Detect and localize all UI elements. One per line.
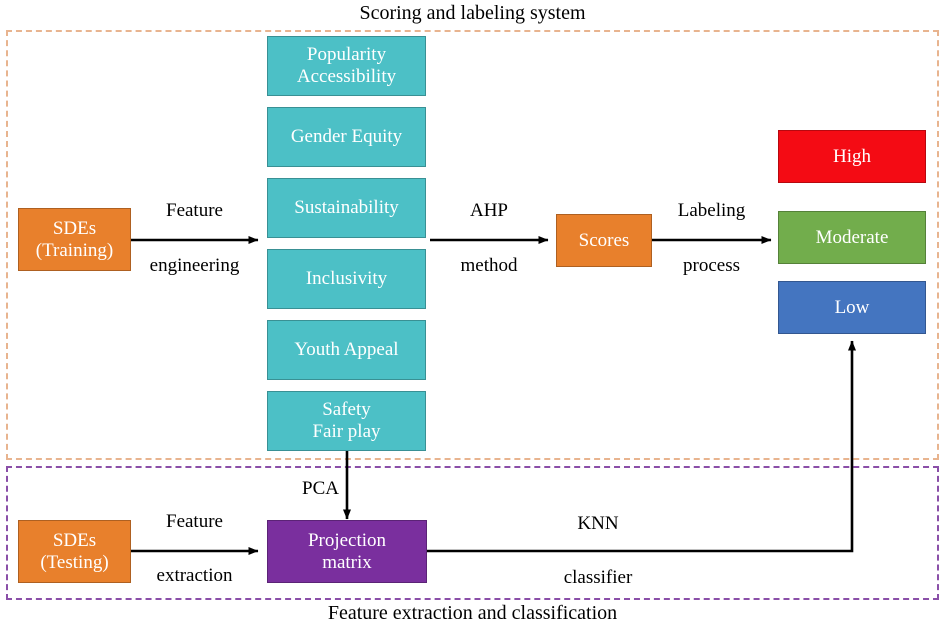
edge-label-ahp-line2: method	[430, 255, 548, 277]
edge-label-pca: PCA	[283, 478, 339, 500]
node-sdes-training: SDEs (Training)	[18, 208, 131, 271]
top-section-title: Scoring and labeling system	[0, 2, 945, 25]
feature-line1: Safety	[322, 399, 371, 421]
feature-line1: Gender Equity	[291, 126, 402, 148]
feature-line2: Fair play	[312, 421, 380, 443]
node-projection-matrix: Projection matrix	[267, 520, 427, 583]
feature-box-gender-equity: Gender Equity	[267, 107, 426, 167]
label-high: High	[833, 146, 871, 168]
feature-box-sustainability: Sustainability	[267, 178, 426, 238]
node-projection-line1: Projection	[308, 530, 386, 552]
node-sdes-training-line2: (Training)	[36, 240, 113, 262]
feature-box-popularity-accessibility: Popularity Accessibility	[267, 36, 426, 96]
label-low: Low	[835, 297, 870, 319]
feature-line1: Youth Appeal	[294, 339, 398, 361]
feature-box-safety-fair-play: Safety Fair play	[267, 391, 426, 451]
edge-label-feature-engineering-line1: Feature	[131, 200, 258, 222]
edge-label-knn-line2: classifier	[500, 567, 696, 589]
feature-line1: Popularity	[307, 44, 386, 66]
node-sdes-training-line1: SDEs	[53, 218, 96, 240]
edge-label-ahp-line1: AHP	[430, 200, 548, 222]
node-scores-label: Scores	[579, 230, 630, 252]
feature-line1: Sustainability	[294, 197, 399, 219]
feature-line2: Accessibility	[297, 66, 396, 88]
label-box-moderate: Moderate	[778, 211, 926, 264]
edge-label-labeling-line2: process	[652, 255, 771, 277]
label-box-high: High	[778, 130, 926, 183]
edge-label-feature-extraction-line2: extraction	[131, 565, 258, 587]
label-moderate: Moderate	[816, 227, 889, 249]
label-box-low: Low	[778, 281, 926, 334]
node-scores: Scores	[556, 214, 652, 267]
edge-label-knn-line1: KNN	[500, 513, 696, 535]
feature-box-youth-appeal: Youth Appeal	[267, 320, 426, 380]
node-projection-line2: matrix	[322, 552, 372, 574]
feature-line1: Inclusivity	[306, 268, 387, 290]
node-sdes-testing-line2: (Testing)	[40, 552, 108, 574]
feature-box-inclusivity: Inclusivity	[267, 249, 426, 309]
diagram-canvas: Scoring and labeling system SDEs (Traini…	[0, 0, 945, 624]
edge-label-feature-engineering-line2: engineering	[131, 255, 258, 277]
node-sdes-testing: SDEs (Testing)	[18, 520, 131, 583]
node-sdes-testing-line1: SDEs	[53, 530, 96, 552]
edge-label-feature-extraction-line1: Feature	[131, 511, 258, 533]
bottom-section-title: Feature extraction and classification	[0, 602, 945, 624]
edge-label-labeling-line1: Labeling	[652, 200, 771, 222]
